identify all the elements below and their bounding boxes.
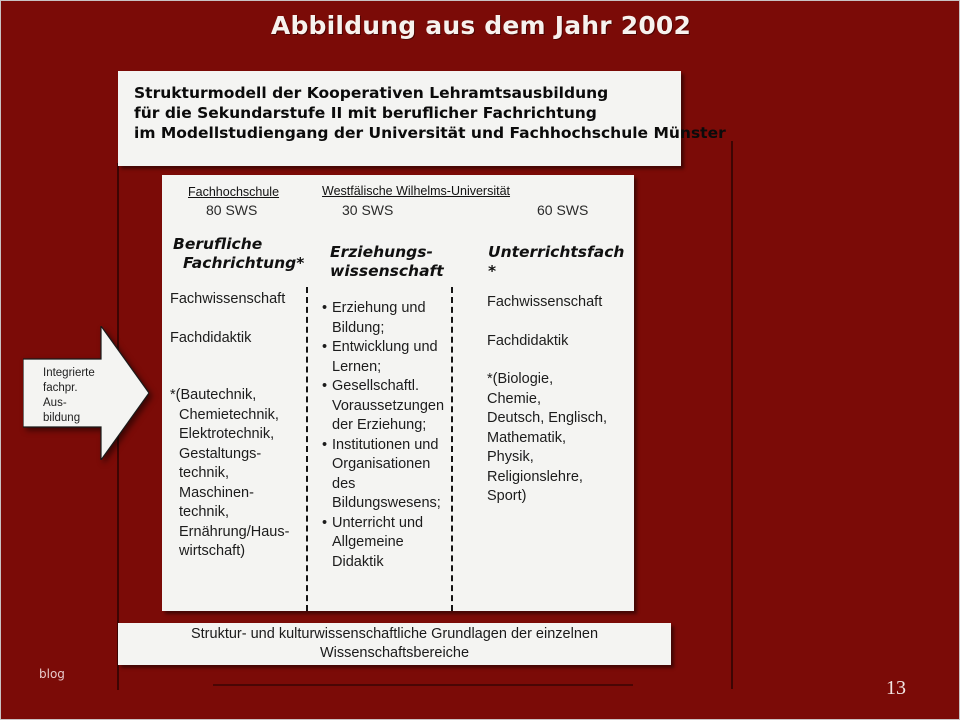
list-item: Unterricht und Allgemeine Didaktik [322,514,452,573]
page-number: 13 [886,677,906,700]
footnote-line: Deutsch, Englisch, [487,409,632,429]
column-title-line-1: Berufliche [173,235,262,253]
institution-label-fachhochschule: Fachhochschule [188,185,279,199]
arrow-label-line-2: fachpr. [43,381,113,396]
footnote-line: Gestaltungs- [170,445,308,465]
footnote-line: technik, [170,464,308,484]
footer-panel: Struktur- und kulturwissenschaftliche Gr… [118,623,671,665]
heading-line-1: Strukturmodell der Kooperativen Lehramts… [134,83,681,103]
heading-panel: Strukturmodell der Kooperativen Lehramts… [118,71,681,166]
institution-label-universitaet: Westfälische Wilhelms-Universität [322,184,510,198]
footnote-line: Religionslehre, [487,468,632,488]
slide-canvas: Abbildung aus dem Jahr 2002 Strukturmode… [0,0,960,720]
column-body-unterrichtsfach: Fachwissenschaft Fachdidaktik *(Biologie… [487,293,632,507]
footer-text: Struktur- und kulturwissenschaftliche Gr… [191,625,598,663]
footnote-line: Maschinen- [170,484,308,504]
footnote-line: wirtschaft) [170,542,308,562]
footnote-line: Chemietechnik, [170,406,308,426]
footnote-unterrichtsfach: *(Biologie, Chemie, Deutsch, Englisch, M… [487,370,632,507]
footnote-line: Sport) [487,487,632,507]
integrated-training-arrow: Integrierte fachpr. Aus- bildung [23,326,149,460]
right-vertical-rule [731,141,733,689]
column-title-line-2: wissenschaft [330,262,444,280]
arrow-label-line-3: Aus- [43,396,113,411]
list-item: Gesellschaftl. Voraussetzungen der Erzie… [322,377,452,436]
footnote-line: Elektrotechnik, [170,425,308,445]
column-title-berufliche-fachrichtung: Berufliche Fachrichtung* [173,235,304,273]
list-item: Fachdidaktik [487,332,632,352]
arrow-label: Integrierte fachpr. Aus- bildung [43,366,113,426]
sws-value-unterrichtsfach: 60 SWS [537,202,588,218]
heading-line-2: für die Sekundarstufe II mit beruflicher… [134,103,681,123]
bottom-horizontal-rule [213,684,633,686]
footnote-line: Chemie, [487,390,632,410]
column-title-line-2: Fachrichtung* [173,254,304,273]
footer-line-2: Wissenschaftsbereiche [320,645,469,661]
list-item: Erziehung und Bildung; [322,299,452,338]
footnote-berufliche-fachrichtung: *(Bautechnik, Chemietechnik, Elektrotech… [170,386,308,562]
column-title-line-1: Erziehungs- [330,243,433,261]
column-title-erziehungswissenschaft: Erziehungs- wissenschaft [330,243,444,281]
blog-watermark: blog [39,667,65,681]
list-item: Institutionen und Organisationen des Bil… [322,436,452,514]
footnote-line: *(Biologie, [487,370,632,390]
list-item: Entwicklung und Lernen; [322,338,452,377]
column-body-erziehungswissenschaft: Erziehung und Bildung; Entwicklung und L… [322,299,452,572]
sws-value-fachhochschule: 80 SWS [206,202,257,218]
column-title-unterrichtsfach: Unterrichtsfach * [488,243,634,281]
footnote-line: Physik, [487,448,632,468]
bullet-list-erziehungswissenschaft: Erziehung und Bildung; Entwicklung und L… [322,299,452,572]
footer-line-1: Struktur- und kulturwissenschaftliche Gr… [191,626,598,642]
list-item: Fachwissenschaft [170,290,308,310]
structure-diagram-panel: Fachhochschule Westfälische Wilhelms-Uni… [162,175,634,611]
footnote-line: Ernährung/Haus- [170,523,308,543]
footnote-line: *(Bautechnik, [170,386,308,406]
page-title: Abbildung aus dem Jahr 2002 [1,11,960,40]
footnote-line: technik, [170,503,308,523]
arrow-label-line-4: bildung [43,411,113,426]
heading-line-3: im Modellstudiengang der Universität und… [134,123,681,143]
sws-value-erziehungswissenschaft: 30 SWS [342,202,393,218]
list-item: Fachdidaktik [170,329,308,349]
column-body-berufliche-fachrichtung: Fachwissenschaft Fachdidaktik *(Bautechn… [170,290,308,562]
arrow-label-line-1: Integrierte [43,366,113,381]
list-item: Fachwissenschaft [487,293,632,313]
footnote-line: Mathematik, [487,429,632,449]
